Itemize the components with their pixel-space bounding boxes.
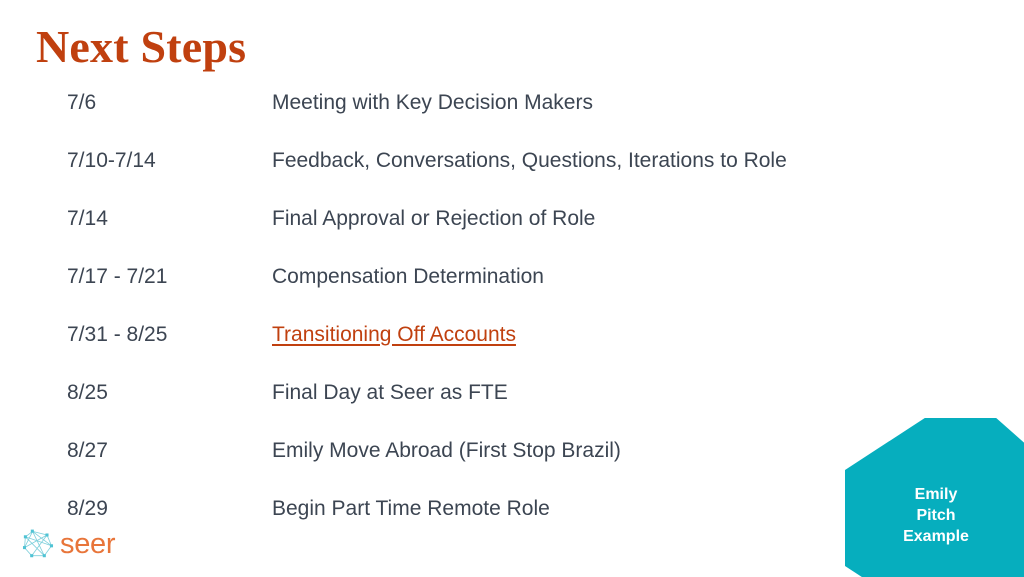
row-description-link[interactable]: Transitioning Off Accounts [272, 320, 516, 350]
row-date: 8/29 [67, 494, 108, 524]
row-description: Feedback, Conversations, Questions, Iter… [272, 146, 787, 176]
list-item: 7/6 Meeting with Key Decision Makers [0, 88, 1024, 146]
row-date: 7/14 [67, 204, 108, 234]
row-description: Meeting with Key Decision Makers [272, 88, 593, 118]
callout-line-1: Emily [845, 484, 1024, 505]
row-description: Compensation Determination [272, 262, 544, 292]
page-title: Next Steps [36, 22, 246, 73]
list-item: 8/25 Final Day at Seer as FTE [0, 378, 1024, 436]
row-description: Begin Part Time Remote Role [272, 494, 550, 524]
callout-line-2: Pitch [845, 505, 1024, 526]
row-description: Final Approval or Rejection of Role [272, 204, 595, 234]
row-date: 7/17 - 7/21 [67, 262, 167, 292]
row-description: Emily Move Abroad (First Stop Brazil) [272, 436, 621, 466]
list-item: 7/17 - 7/21 Compensation Determination [0, 262, 1024, 320]
row-date: 7/31 - 8/25 [67, 320, 167, 350]
list-item: 7/14 Final Approval or Rejection of Role [0, 204, 1024, 262]
callout-line-3: Example [845, 526, 1024, 547]
row-date: 8/25 [67, 378, 108, 408]
row-date: 7/10-7/14 [67, 146, 156, 176]
row-date: 7/6 [67, 88, 96, 118]
slide-canvas: Next Steps 7/6 Meeting with Key Decision… [0, 0, 1024, 577]
callout-text: Emily Pitch Example [845, 484, 1024, 547]
seer-logo: seer [20, 526, 115, 562]
row-date: 8/27 [67, 436, 108, 466]
list-item: 7/10-7/14 Feedback, Conversations, Quest… [0, 146, 1024, 204]
row-description: Final Day at Seer as FTE [272, 378, 508, 408]
seer-wordmark: seer [60, 530, 115, 559]
seer-network-logo-icon [20, 526, 56, 562]
list-item: 7/31 - 8/25 Transitioning Off Accounts [0, 320, 1024, 378]
